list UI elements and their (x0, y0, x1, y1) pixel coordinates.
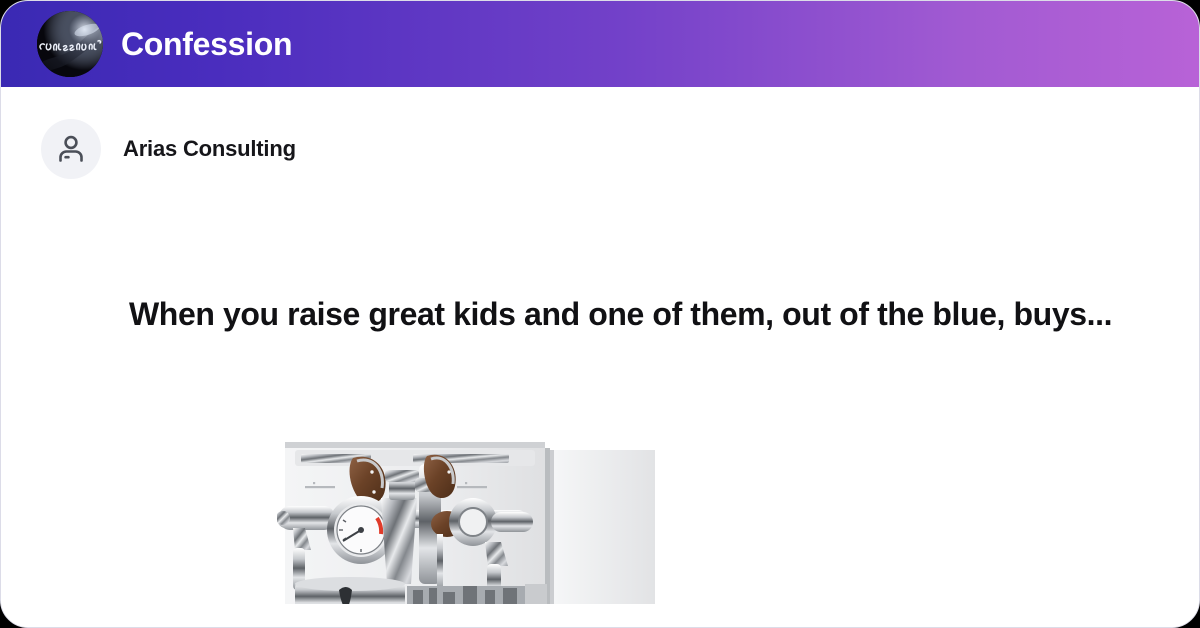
author-name: Arias Consulting (123, 136, 296, 162)
card-header: Confession (1, 1, 1199, 87)
confession-neon-script-logo-icon (37, 11, 103, 77)
person-icon (54, 132, 88, 166)
card-body: Arias Consulting When you raise great ki… (1, 87, 1199, 627)
fishbowl-wordmark-icon (1003, 623, 1151, 628)
author-row[interactable]: Arias Consulting (41, 119, 296, 179)
espresso-machine-photo-icon (277, 434, 663, 604)
fishbowl-logo (1003, 624, 1151, 628)
page-title: When you raise great kids and one of the… (129, 295, 1159, 333)
avatar[interactable] (41, 119, 101, 179)
brand-avatar[interactable] (37, 11, 103, 77)
confession-post-card: Confession Arias Consulting When you rai… (0, 0, 1200, 628)
post-image[interactable] (277, 434, 663, 604)
header-title: Confession (121, 28, 292, 60)
